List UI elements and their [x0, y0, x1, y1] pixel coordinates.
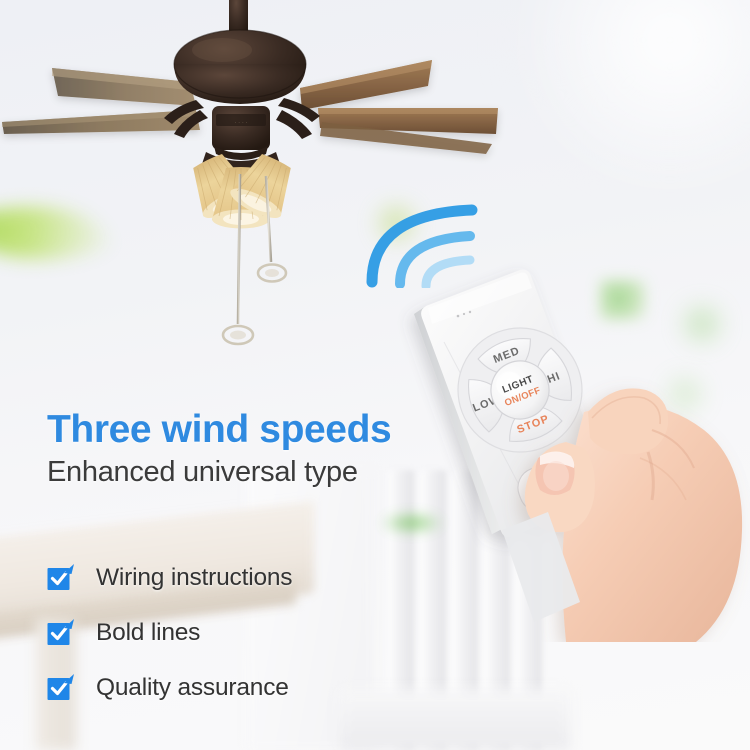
- corner-glow: [500, 0, 750, 190]
- copy-block: Three wind speeds Enhanced universal typ…: [47, 409, 467, 489]
- feature-item: Quality assurance: [46, 661, 446, 715]
- promo-image-canvas: · · · ·: [0, 0, 750, 750]
- fan-switch-housing: [212, 106, 270, 150]
- page-subtitle: Enhanced universal type: [47, 457, 467, 489]
- svg-text:· · · ·: · · · ·: [235, 120, 248, 126]
- index-finger: [588, 388, 668, 454]
- feature-item: Wiring instructions: [46, 551, 446, 605]
- feature-list: Wiring instructions Bold lines Quality a…: [46, 551, 446, 715]
- checkbox-checked-icon: [46, 673, 76, 703]
- feature-label: Wiring instructions: [96, 564, 292, 592]
- checkbox-checked-icon: [46, 563, 76, 593]
- page-title: Three wind speeds: [47, 409, 467, 450]
- feature-item: Bold lines: [46, 606, 446, 660]
- feature-label: Bold lines: [96, 619, 200, 647]
- feature-label: Quality assurance: [96, 674, 289, 702]
- checkbox-checked-icon: [46, 618, 76, 648]
